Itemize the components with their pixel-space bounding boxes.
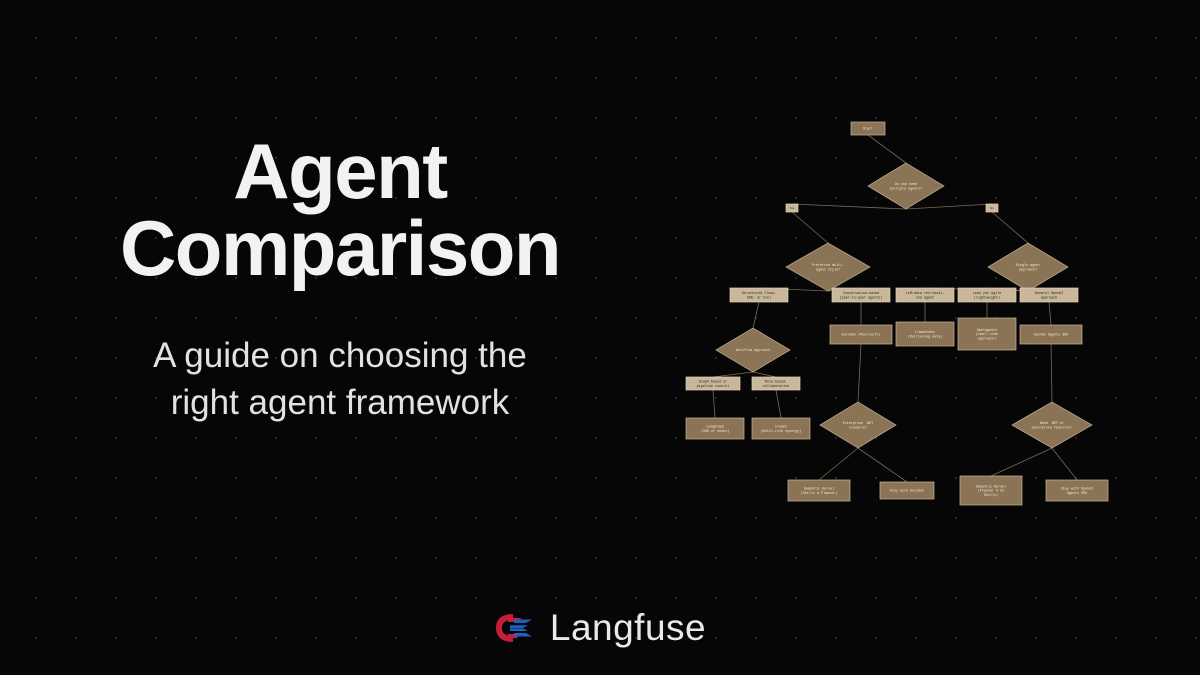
flow-node-n-generic[interactable]: General OpenAIapproach	[1020, 288, 1078, 302]
flow-node-n-llm[interactable]: LLM/data retrieval,one agent	[896, 288, 954, 302]
node-label: SDK, or tool	[747, 295, 771, 300]
flow-node-lbl-no[interactable]: No	[986, 204, 998, 212]
node-label: enterprise features?	[1032, 425, 1073, 430]
node-label: agent style?	[816, 267, 840, 272]
flow-edge	[991, 448, 1052, 476]
node-label: approach)	[978, 336, 996, 341]
node-label: Start	[863, 127, 873, 132]
flow-node-n-langgraph[interactable]: LangGraph(DAG of nodes)	[686, 418, 744, 439]
flow-node-n-codeagent[interactable]: Lean yet agile(lightweight)	[958, 288, 1016, 302]
flowchart-node-layer: StartDo you needmultiple agents?YesNoPre…	[686, 122, 1108, 505]
flow-edge	[776, 390, 781, 418]
flow-node-q-workflow[interactable]: Workflow approach	[716, 328, 790, 372]
page-title: Agent Comparison	[120, 133, 560, 286]
flow-node-n-crewai[interactable]: CrewAI(Multi-role synergy)	[752, 418, 810, 439]
flow-edge	[1049, 302, 1051, 325]
brand-bar: Langfuse	[0, 607, 1200, 649]
node-label: Workflow approach	[736, 348, 771, 353]
node-label: one agent	[916, 296, 934, 300]
node-label: (Skills & Planner)	[801, 491, 838, 496]
langfuse-logo-svg	[494, 611, 536, 645]
flowchart: StartDo you needmultiple agents?YesNoPre…	[668, 96, 1128, 516]
flow-edge	[792, 212, 828, 243]
node-label: approach	[1041, 295, 1057, 300]
flow-node-n-openaisdk[interactable]: OpenAI Agents SDK	[1020, 325, 1082, 344]
brand-name: Langfuse	[550, 607, 706, 649]
node-label: collaborative	[763, 384, 789, 389]
flow-node-n-stayopenai[interactable]: Stay with OpenAIAgents SDK	[1046, 480, 1108, 501]
node-label: approach?	[1019, 267, 1037, 272]
node-label: Skills)	[984, 493, 998, 498]
node-label: (Multi-role synergy)	[761, 429, 802, 434]
flow-node-q-dotnet1[interactable]: Enterprise .NETscenario?	[820, 402, 896, 448]
node-label: (peer-to-peer agents)	[840, 295, 883, 300]
flow-node-n-sk2[interactable]: Semantic Kernel(Planner & AISkills)	[960, 476, 1022, 505]
flow-node-q-single[interactable]: Single-agentapproach?	[988, 243, 1068, 291]
flow-node-start[interactable]: Start	[851, 122, 885, 135]
hero-panel: Agent Comparison A guide on choosing the…	[0, 0, 680, 560]
flow-node-n-smolagents[interactable]: SmolAgents(small codeapproach)	[958, 318, 1016, 350]
flow-node-q-dotnet2[interactable]: Need .NET orenterprise features?	[1012, 402, 1092, 448]
flow-edge	[753, 302, 759, 328]
flow-edge	[858, 344, 861, 402]
langfuse-logo-icon	[494, 611, 536, 645]
flow-node-q-multi[interactable]: Do you needmultiple agents?	[868, 163, 944, 209]
node-label: pipeline control	[697, 384, 730, 389]
flow-edge	[753, 372, 776, 377]
flow-node-n-llamaindex[interactable]: LlamaIndex(Retrieving data)	[896, 322, 954, 346]
flow-edge	[906, 204, 992, 209]
flow-node-n-stayauto[interactable]: Stay with AutoGen	[880, 482, 934, 499]
flow-node-n-autogen[interactable]: AutoGen (Microsoft)	[830, 325, 892, 344]
flow-edge	[713, 390, 715, 418]
flow-edge	[1052, 448, 1077, 480]
node-label: (Retrieving data)	[908, 334, 943, 339]
node-label: multiple agents?	[890, 186, 923, 191]
page-subtitle: A guide on choosing the right agent fram…	[153, 332, 527, 427]
node-label: Stay with AutoGen	[890, 489, 925, 494]
node-label: AutoGen (Microsoft)	[842, 333, 881, 338]
flow-edge	[819, 448, 858, 480]
node-label: scenario?	[849, 425, 867, 430]
node-label: Agents SDK	[1067, 492, 1088, 496]
flow-node-lbl-graph[interactable]: Graph-based orpipeline control	[686, 377, 740, 390]
flowchart-svg: StartDo you needmultiple agents?YesNoPre…	[668, 96, 1128, 516]
flow-node-n-convo[interactable]: Conversation-based(peer-to-peer agents)	[832, 288, 890, 302]
node-label: No	[990, 207, 994, 210]
flow-node-n-structured[interactable]: Structured flows,SDK, or tool	[730, 288, 788, 302]
flow-node-n-sk1[interactable]: Semantic Kernel(Skills & Planner)	[788, 480, 850, 501]
flow-edge	[858, 448, 907, 482]
node-label: Yes	[790, 207, 795, 210]
node-label: OpenAI Agents SDK	[1034, 334, 1070, 338]
flow-edge	[1051, 344, 1052, 402]
flow-node-lbl-roles[interactable]: Role-based,collaborative	[752, 377, 800, 390]
flow-edge	[992, 212, 1028, 243]
node-label: (DAG of nodes)	[701, 429, 730, 434]
flow-edge	[868, 135, 906, 163]
flow-edge	[713, 372, 753, 377]
flow-node-q-style[interactable]: Preferred multi-agent style?	[786, 243, 870, 291]
node-label: (lightweight)	[974, 295, 1000, 300]
flow-edge	[792, 204, 906, 209]
flow-node-lbl-yes[interactable]: Yes	[786, 204, 798, 212]
